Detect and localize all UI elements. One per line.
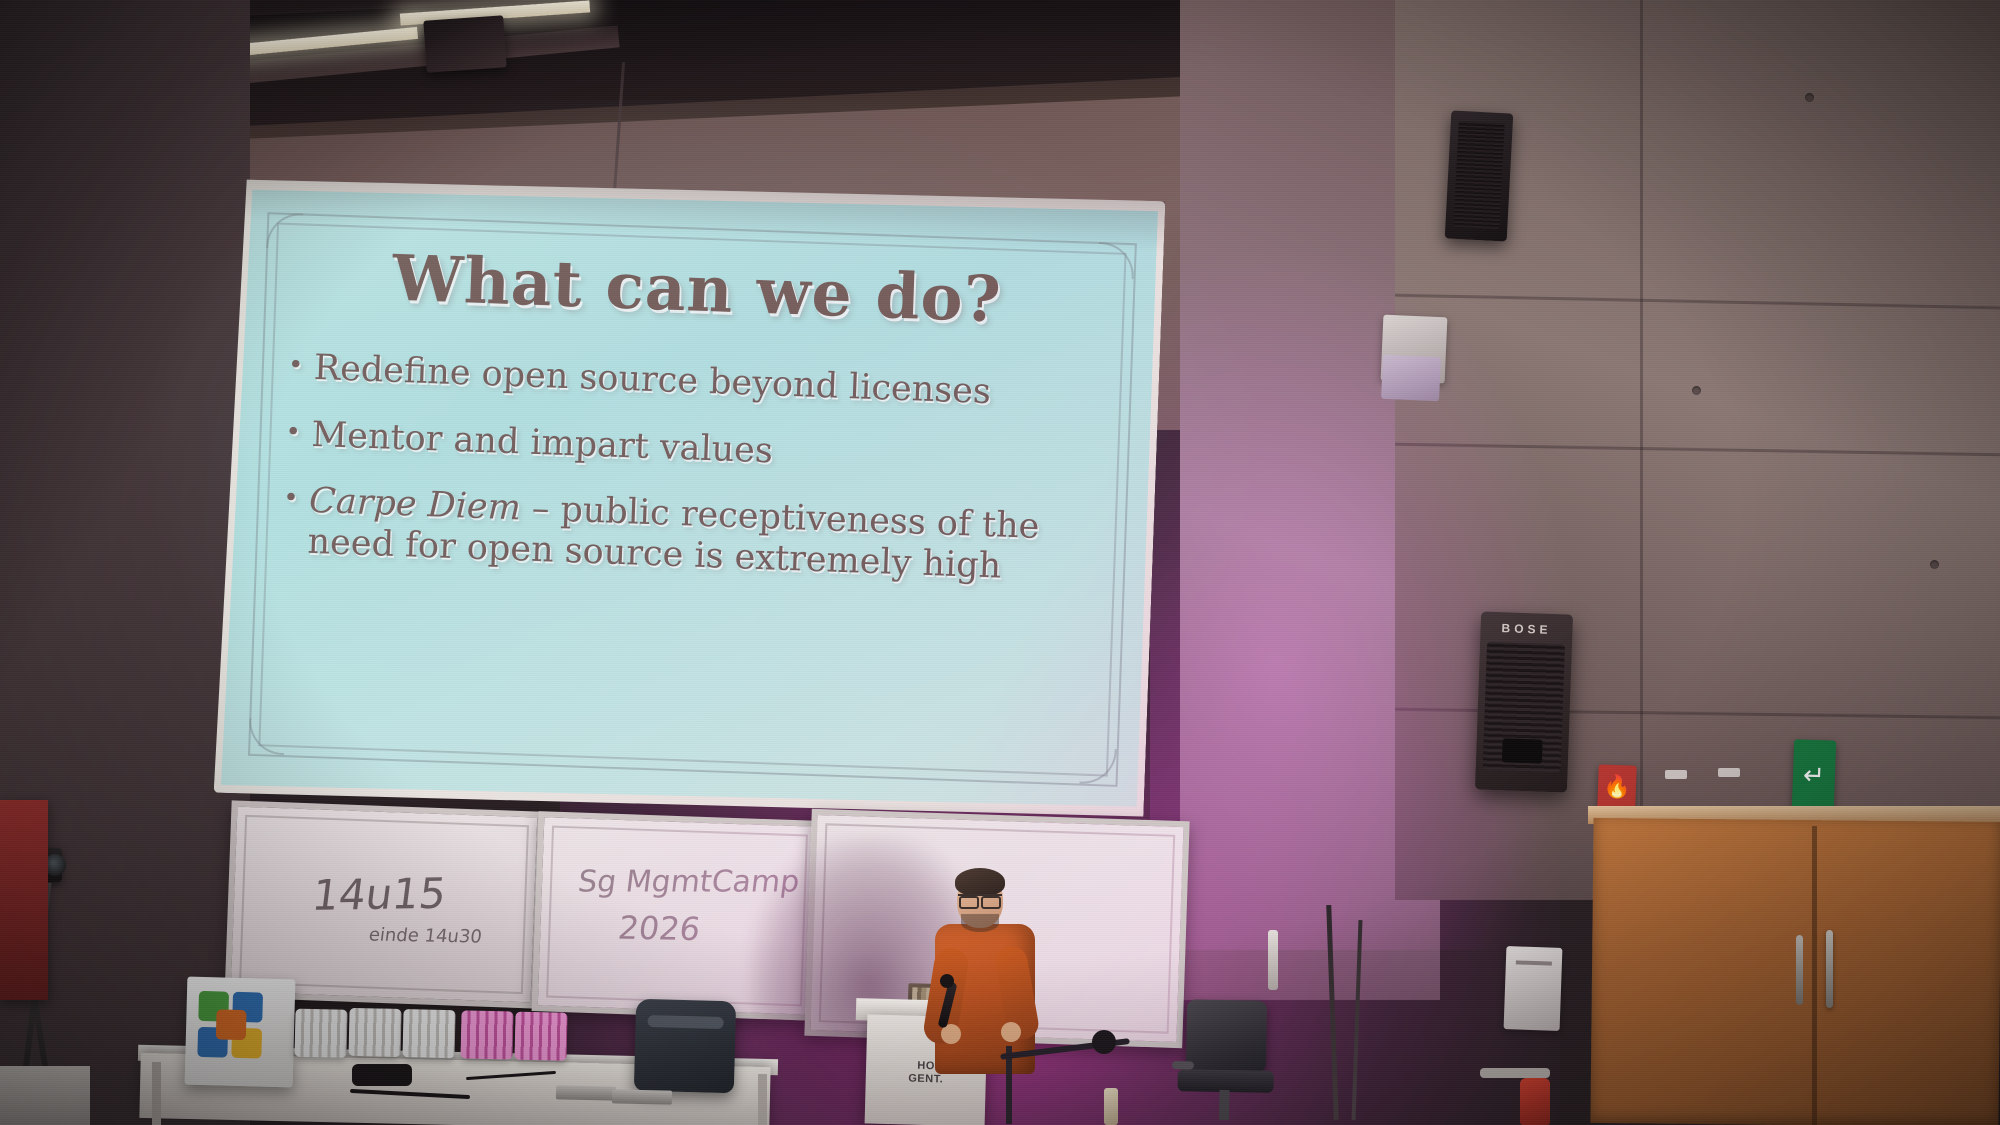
wall-sticker xyxy=(1665,770,1687,779)
screen-frame: What can we do? • Redefine open source b… xyxy=(214,168,1166,826)
table-leg xyxy=(758,1074,767,1125)
backpack-strap xyxy=(647,1015,723,1029)
door-gap xyxy=(1812,826,1817,1125)
wall-sticker xyxy=(1718,768,1740,777)
equipment-case xyxy=(352,1064,412,1086)
bullet-text: Carpe Diem – public receptiveness of the… xyxy=(307,481,1123,591)
bullet-marker: • xyxy=(283,480,310,518)
chair xyxy=(349,1008,402,1057)
panel-slot xyxy=(1516,960,1552,965)
extinguisher-bracket xyxy=(1480,1068,1550,1078)
slide-bullet-item: • Mentor and impart values xyxy=(285,414,1126,485)
whiteboard-left: 14u15 einde 14u30 xyxy=(224,800,543,1008)
bullet-text: Mentor and impart values xyxy=(311,414,1126,484)
presenter-hair xyxy=(955,868,1005,896)
slide-bullet-item: • Carpe Diem – public receptiveness of t… xyxy=(281,480,1123,591)
chair-armrest xyxy=(1172,1061,1194,1069)
concrete-tie-hole xyxy=(1692,386,1701,395)
speaker-stand-pole xyxy=(1268,930,1278,990)
laptop xyxy=(556,1085,616,1100)
laptop xyxy=(612,1089,672,1104)
puzzle-piece-orange xyxy=(216,1009,247,1040)
mic-stand-head xyxy=(1092,1030,1116,1054)
concrete-tie-hole xyxy=(1930,560,1939,569)
chair xyxy=(460,1010,513,1059)
chair xyxy=(294,1009,347,1058)
chair xyxy=(514,1012,567,1061)
wall-access-panel[interactable] xyxy=(1504,946,1563,1031)
wall-control-panel[interactable] xyxy=(1381,355,1441,401)
presenter-beard xyxy=(961,914,999,932)
left-equipment-box xyxy=(0,1066,90,1125)
bullet-marker: • xyxy=(285,414,312,452)
stacked-chairs xyxy=(294,1005,595,1066)
chair xyxy=(402,1009,455,1058)
presenter-hand-right xyxy=(1001,1022,1021,1042)
exit-sign: ↵ xyxy=(1792,739,1836,810)
office-chair xyxy=(1171,999,1279,1125)
projection-screen: What can we do? • Redefine open source b… xyxy=(213,168,1165,841)
fire-sign: 🔥 xyxy=(1597,764,1637,809)
fire-extinguisher xyxy=(1520,1078,1550,1125)
speaker-port xyxy=(1502,738,1543,763)
door-handle[interactable] xyxy=(1826,930,1833,1008)
lecture-hall-photo: What can we do? • Redefine open source b… xyxy=(0,0,2000,1125)
puzzle-cube xyxy=(185,977,296,1088)
concrete-seam xyxy=(1640,0,1643,900)
presentation-slide: What can we do? • Redefine open source b… xyxy=(221,177,1158,817)
chair-backrest xyxy=(1186,999,1267,1072)
presenter xyxy=(925,874,1045,1124)
water-bottle xyxy=(1104,1088,1118,1125)
bullet-marker: • xyxy=(287,347,314,385)
left-red-cabinet xyxy=(0,800,48,1000)
projector xyxy=(423,15,506,72)
bose-brand-label: BOSE xyxy=(1480,620,1572,637)
bose-speaker: BOSE xyxy=(1475,611,1573,792)
chair-post xyxy=(1219,1090,1230,1120)
door-handle[interactable] xyxy=(1796,935,1803,1005)
glasses-icon xyxy=(958,894,1002,905)
whiteboard-inner-border xyxy=(239,815,529,994)
backpack xyxy=(634,999,736,1094)
slide-bullet-list: • Redefine open source beyond licenses •… xyxy=(280,347,1128,617)
table-leg xyxy=(152,1062,161,1125)
cube-face xyxy=(195,989,283,1075)
ceiling-speaker xyxy=(1445,110,1514,241)
concrete-tie-hole xyxy=(1805,93,1814,102)
